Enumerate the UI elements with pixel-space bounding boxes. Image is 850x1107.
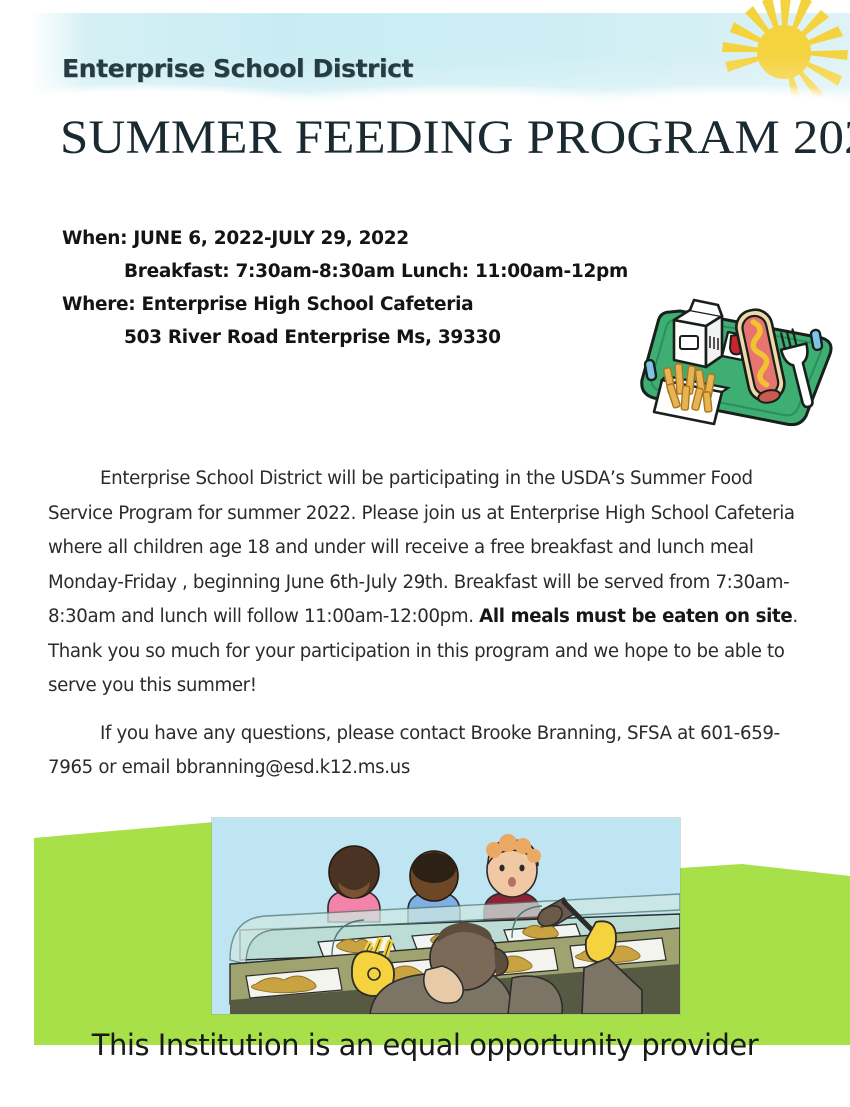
paragraph-1-part-1: Enterprise School District will be parti… <box>48 468 795 627</box>
detail-address: 503 River Road Enterprise Ms, 39330 <box>62 321 682 354</box>
lunch-tray-icon <box>636 284 836 432</box>
detail-where: Where: Enterprise High School Cafeteria <box>62 288 682 321</box>
detail-meal-times: Breakfast: 7:30am-8:30am Lunch: 11:00am-… <box>62 255 682 288</box>
paragraph-contact: If you have any questions, please contac… <box>48 717 814 786</box>
body-copy: Enterprise School District will be parti… <box>48 462 814 786</box>
detail-when: When: JUNE 6, 2022-JULY 29, 2022 <box>62 222 682 255</box>
page-title: SUMMER FEEDING PROGRAM 2022 <box>60 110 850 165</box>
event-details: When: JUNE 6, 2022-JULY 29, 2022 Breakfa… <box>62 222 682 354</box>
paragraph-1-emphasis: All meals must be eaten on site <box>479 606 792 627</box>
equal-opportunity-statement: This Institution is an equal opportunity… <box>0 1028 850 1062</box>
flyer-page: Enterprise School District SUMMER FEEDIN… <box>0 0 850 1107</box>
district-name: Enterprise School District <box>62 54 413 83</box>
cafeteria-serving-line-photo <box>212 818 680 1014</box>
serving-line-illustration <box>212 818 680 1014</box>
paragraph-program-info: Enterprise School District will be parti… <box>48 462 814 704</box>
